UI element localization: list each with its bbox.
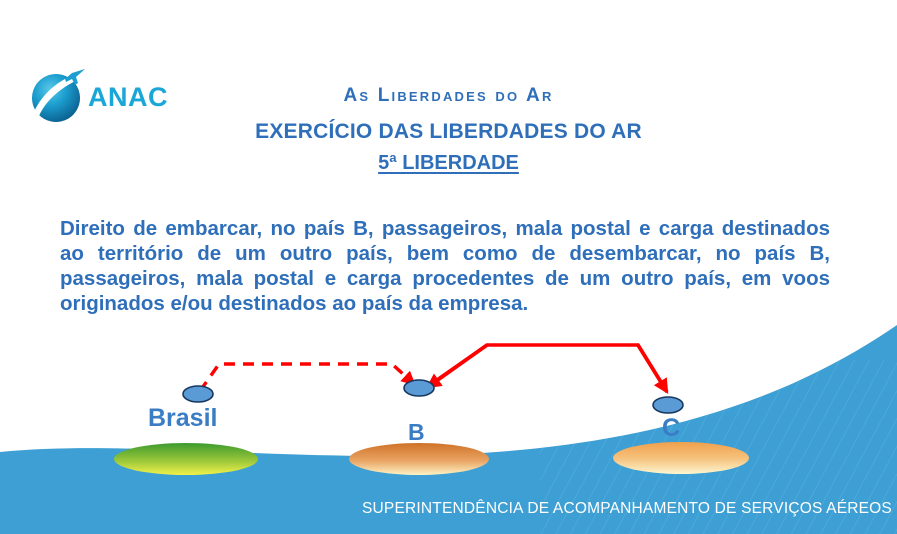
platform-b — [349, 443, 489, 475]
page-title-freedom-number: 5ª LIBERDADE — [0, 152, 897, 175]
node-marker-brasil — [183, 386, 213, 402]
node-label-brasil: Brasil — [148, 404, 217, 433]
page-subtitle-liberdades: As Liberdades do Ar — [0, 85, 897, 107]
node-label-b: B — [408, 419, 425, 446]
body-paragraph: Direito de embarcar, no país B, passagei… — [60, 216, 830, 316]
route-b-to-c — [427, 345, 666, 390]
node-label-c: C — [662, 414, 680, 443]
route-arrowhead-into-c — [638, 345, 667, 392]
platform-brasil — [114, 443, 258, 475]
page-title: EXERCÍCIO DAS LIBERDADES DO AR — [0, 120, 897, 144]
node-marker-b — [404, 380, 434, 396]
platform-c — [613, 442, 749, 474]
freedom-number-underline: 5ª LIBERDADE — [378, 152, 519, 174]
route-arrowhead-into-b — [428, 345, 487, 387]
node-marker-c — [653, 397, 683, 413]
route-brasil-to-b — [200, 364, 414, 391]
footer-department-name: SUPERINTENDÊNCIA DE ACOMPANHAMENTO DE SE… — [362, 500, 892, 518]
slide-canvas: ANAC As Liberdades do Ar EXERCÍCIO DAS L… — [0, 0, 897, 534]
